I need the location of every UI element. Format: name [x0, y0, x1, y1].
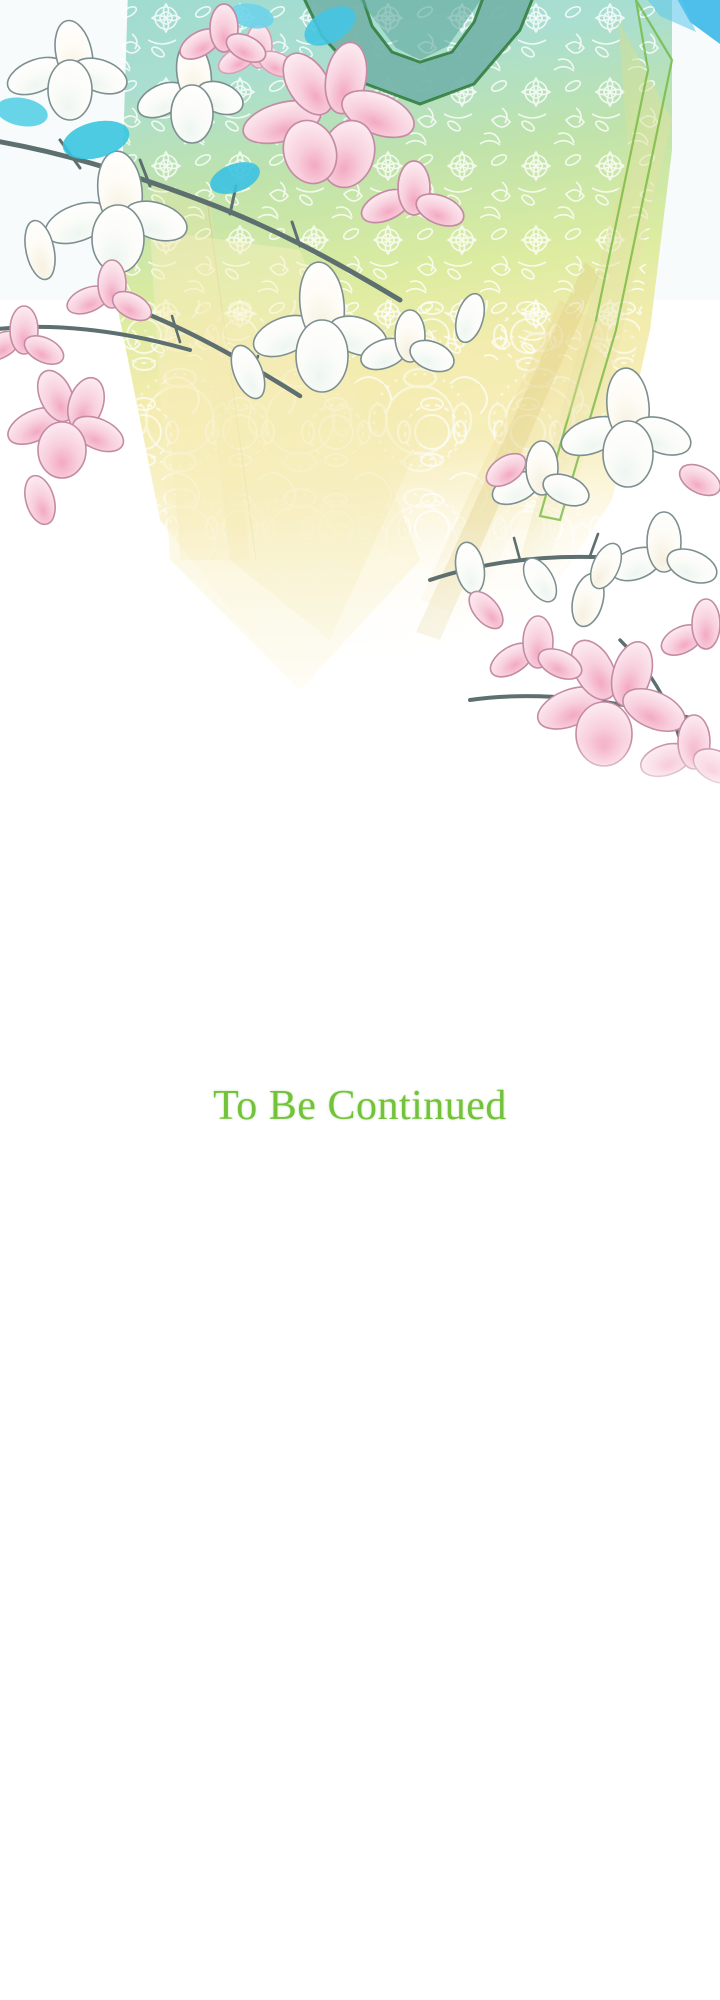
comic-artwork-panel — [0, 0, 720, 800]
to-be-continued-text: To Be Continued — [213, 1085, 507, 1127]
page-whitespace-lower — [0, 1150, 720, 2000]
comic-page: To Be Continued — [0, 0, 720, 2000]
to-be-continued-block: To Be Continued — [0, 1085, 720, 1127]
